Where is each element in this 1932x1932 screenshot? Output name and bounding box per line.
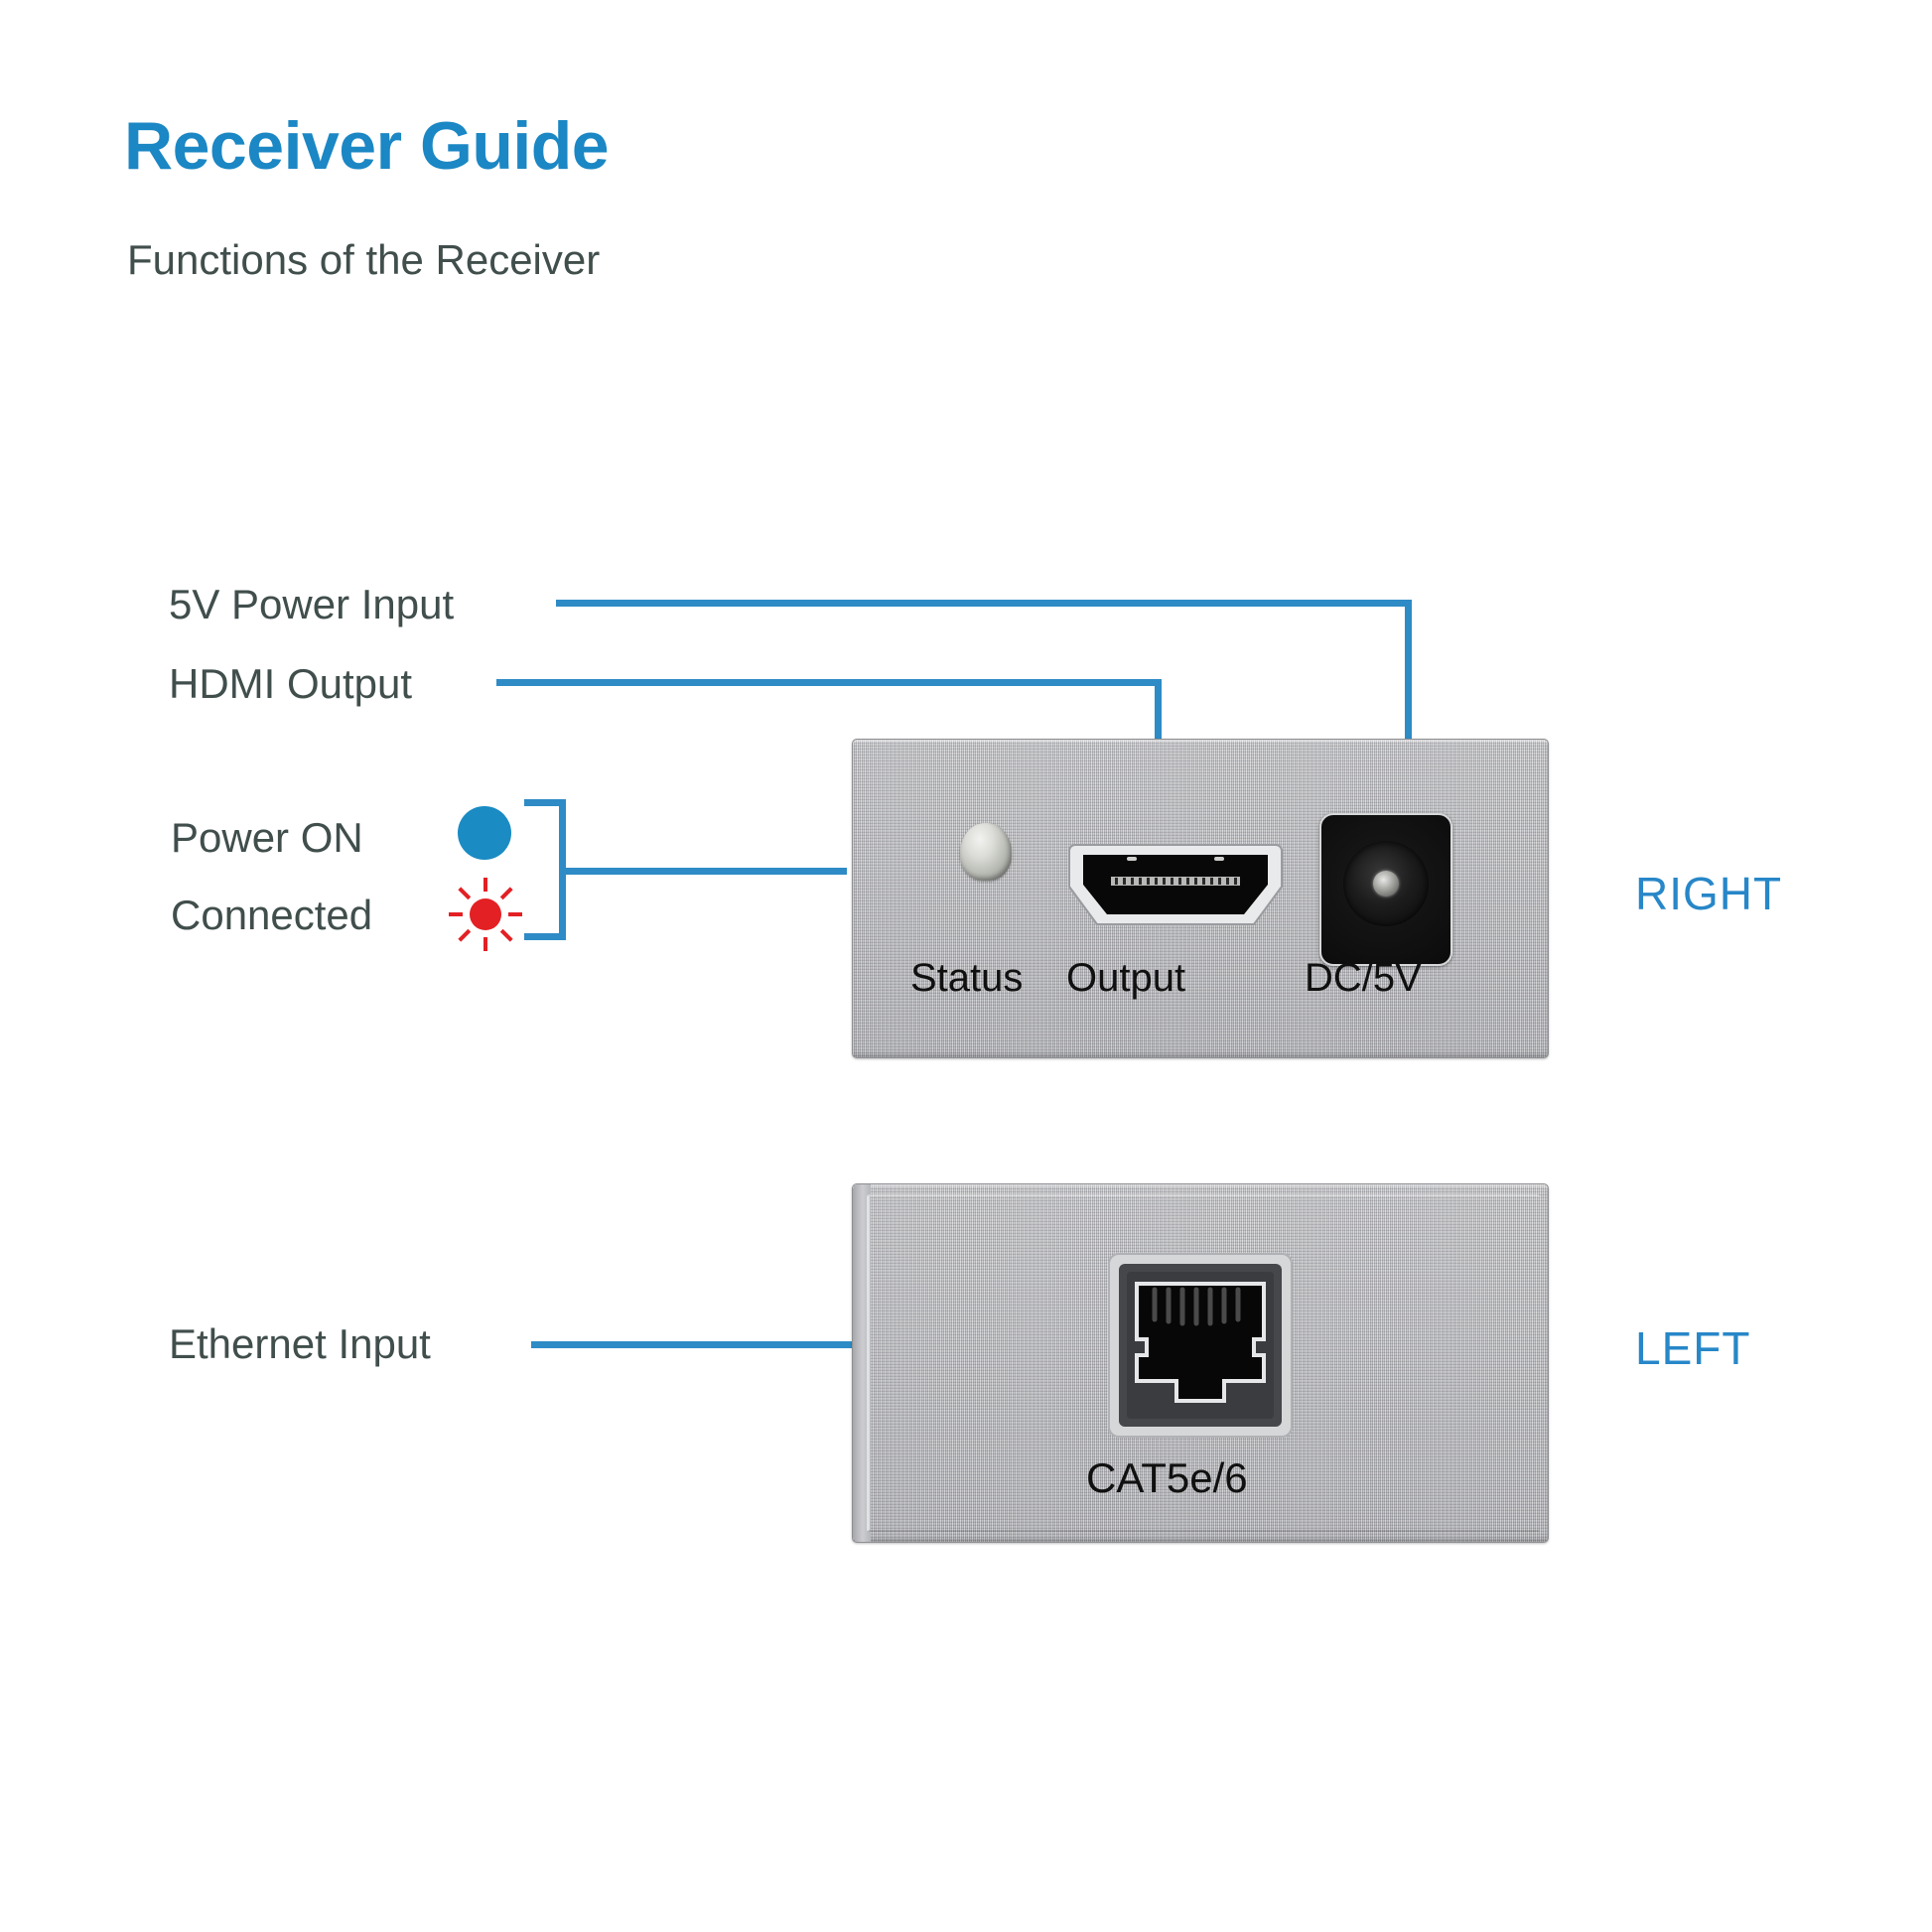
page-title: Receiver Guide	[124, 107, 609, 185]
hdmi-output-port[interactable]	[1065, 837, 1286, 932]
leader-line-power-input-vertical	[1405, 600, 1412, 742]
leader-line-status-led	[564, 868, 847, 875]
callout-label-power-on: Power ON	[171, 814, 363, 862]
callout-label-power-input: 5V Power Input	[169, 581, 454, 628]
receiver-right-side-panel: Status Output DC/5V	[852, 739, 1549, 1058]
leader-line-power-input-horizontal	[556, 600, 1412, 607]
power-on-led-icon	[458, 806, 511, 860]
callout-label-connected: Connected	[171, 892, 372, 939]
status-led-indicator	[960, 823, 1012, 881]
side-label-left: LEFT	[1635, 1321, 1750, 1375]
page-subtitle: Functions of the Receiver	[127, 236, 600, 284]
dc-jack-center-pin	[1373, 871, 1399, 897]
led-legend-bracket	[524, 799, 566, 940]
port-caption-cat5e6: CAT5e/6	[1086, 1454, 1248, 1502]
port-caption-output: Output	[1066, 956, 1185, 1001]
callout-label-ethernet-input: Ethernet Input	[169, 1320, 431, 1368]
receiver-left-side-panel: CAT5e/6	[852, 1183, 1549, 1543]
rj45-ethernet-input-port[interactable]	[1107, 1252, 1294, 1439]
panel-edge-bevel	[853, 1184, 871, 1542]
leader-line-hdmi-output-horizontal	[496, 679, 1162, 686]
callout-label-hdmi-output: HDMI Output	[169, 660, 412, 708]
connected-blinking-led-icon	[447, 876, 524, 953]
side-label-right: RIGHT	[1635, 867, 1782, 920]
port-caption-status: Status	[910, 956, 1023, 1001]
port-caption-dc5v: DC/5V	[1305, 956, 1422, 1001]
dc-power-input-jack[interactable]	[1319, 813, 1452, 966]
